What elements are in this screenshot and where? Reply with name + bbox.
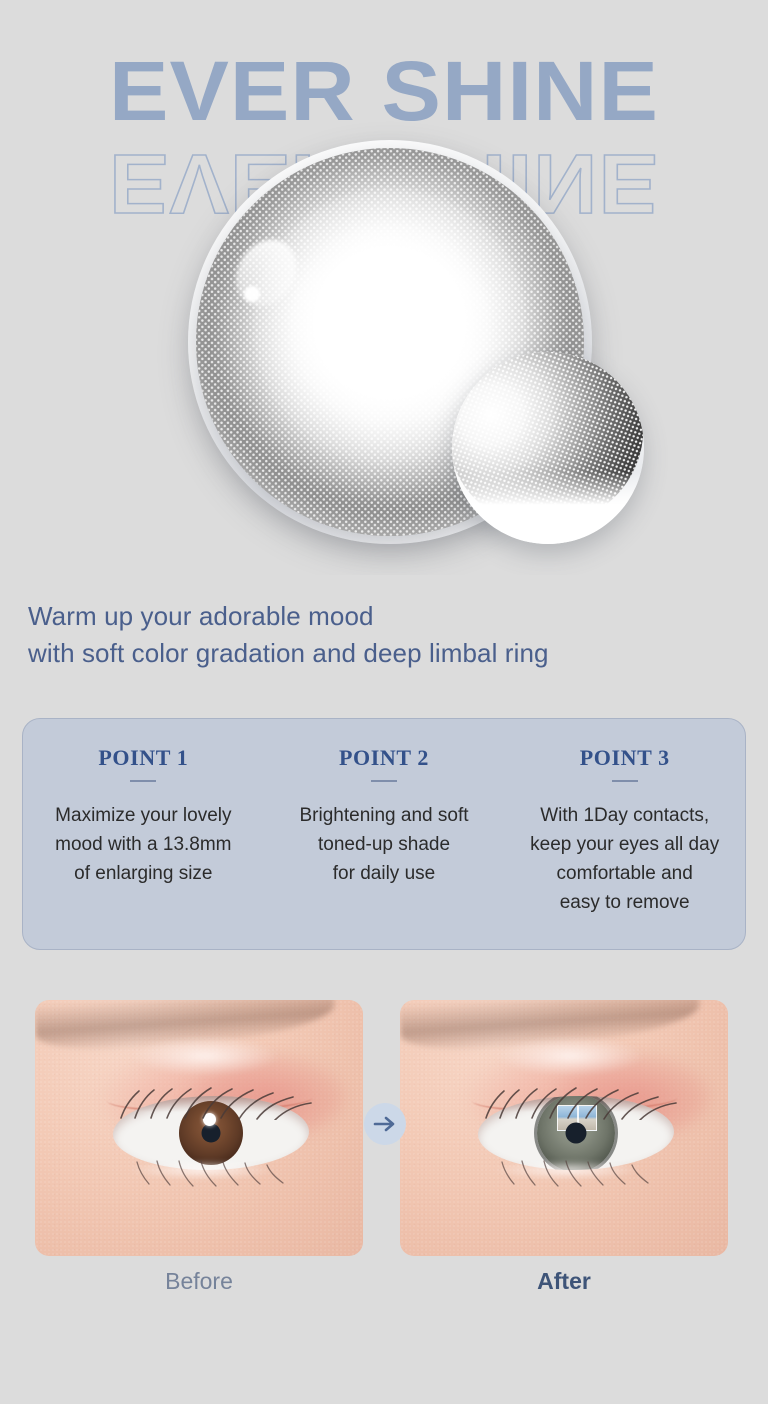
point-3-line-3: comfortable and (512, 860, 737, 889)
catchlight-icon (203, 1113, 216, 1126)
point-2-heading: POINT 2 (272, 745, 497, 771)
lid-shimmer (495, 1036, 645, 1076)
iris-natural (179, 1101, 243, 1165)
lower-lash-glow (492, 1160, 642, 1180)
lens-highlight-dot-icon (244, 286, 260, 302)
after-label: After (400, 1268, 728, 1295)
contact-lens-illustration (0, 0, 768, 575)
point-column-1: POINT 1 Maximize your lovely mood with a… (23, 719, 264, 949)
point-3-divider (612, 780, 638, 782)
pupil (202, 1124, 221, 1143)
tagline: Warm up your adorable mood with soft col… (28, 598, 728, 672)
point-column-3: POINT 3 With 1Day contacts, keep your ey… (504, 719, 745, 949)
before-eye-photo (35, 1000, 363, 1256)
point-3-heading: POINT 3 (512, 745, 737, 771)
point-1-body: Maximize your lovely mood with a 13.8mm … (31, 802, 256, 889)
point-1-line-3: of enlarging size (31, 860, 256, 889)
arrow-right-icon (373, 1115, 397, 1133)
lower-lash-glow (127, 1160, 277, 1180)
point-3-body: With 1Day contacts, keep your eyes all d… (512, 802, 737, 918)
contact-lens-secondary-icon (452, 352, 644, 544)
iris-with-lens (537, 1096, 615, 1170)
point-3-line-2: keep your eyes all day (512, 831, 737, 860)
point-2-line-1: Brightening and soft (272, 802, 497, 831)
point-2-line-3: for daily use (272, 860, 497, 889)
point-1-divider (130, 780, 156, 782)
point-1-line-1: Maximize your lovely (31, 802, 256, 831)
before-after-arrow-badge (364, 1103, 406, 1145)
hero-section: EVER SHINE EVER SHINE (0, 0, 768, 575)
lid-shimmer (130, 1036, 280, 1076)
point-3-line-4: easy to remove (512, 889, 737, 918)
tagline-line-2: with soft color gradation and deep limba… (28, 635, 728, 672)
before-label: Before (35, 1268, 363, 1295)
after-eye-photo (400, 1000, 728, 1256)
lens-secondary-lip (452, 472, 644, 544)
point-2-line-2: toned-up shade (272, 831, 497, 860)
point-1-heading: POINT 1 (31, 745, 256, 771)
point-2-divider (371, 780, 397, 782)
point-2-body: Brightening and soft toned-up shade for … (272, 802, 497, 889)
point-1-line-2: mood with a 13.8mm (31, 831, 256, 860)
points-panel: POINT 1 Maximize your lovely mood with a… (22, 718, 746, 950)
point-3-line-1: With 1Day contacts, (512, 802, 737, 831)
tagline-line-1: Warm up your adorable mood (28, 598, 728, 635)
point-column-2: POINT 2 Brightening and soft toned-up sh… (264, 719, 505, 949)
pupil (566, 1123, 587, 1144)
